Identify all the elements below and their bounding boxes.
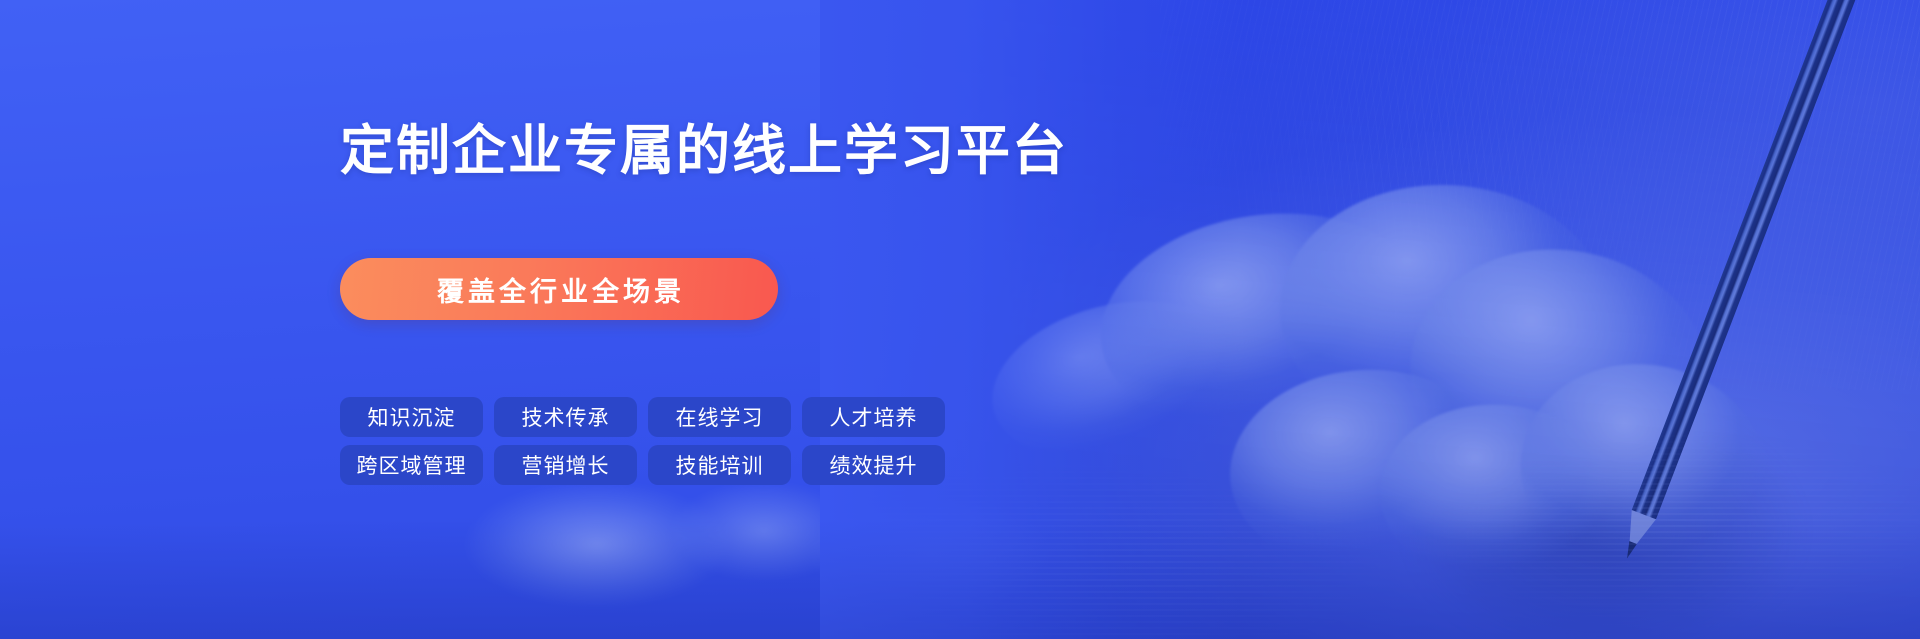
feature-tag[interactable]: 在线学习: [648, 397, 791, 437]
feature-tag-label: 营销增长: [522, 450, 610, 480]
feature-tag-label: 在线学习: [676, 402, 764, 432]
feature-tag-label: 知识沉淀: [368, 402, 456, 432]
feature-tag-grid: 知识沉淀 技术传承 在线学习 人才培养 跨区域管理 营销增长 技能培训 绩效提升: [340, 397, 945, 485]
feature-tag[interactable]: 技能培训: [648, 445, 791, 485]
feature-tag-label: 绩效提升: [830, 450, 918, 480]
feature-tag-label: 技术传承: [522, 402, 610, 432]
feature-tag-label: 人才培养: [830, 402, 918, 432]
promo-banner: 定制企业专属的线上学习平台 覆盖全行业全场景 知识沉淀 技术传承 在线学习 人才…: [0, 0, 1920, 639]
feature-tag[interactable]: 知识沉淀: [340, 397, 483, 437]
feature-tag[interactable]: 绩效提升: [802, 445, 945, 485]
coverage-badge[interactable]: 覆盖全行业全场景: [340, 258, 778, 320]
feature-tag[interactable]: 跨区域管理: [340, 445, 483, 485]
banner-content: 定制企业专属的线上学习平台 覆盖全行业全场景 知识沉淀 技术传承 在线学习 人才…: [340, 0, 1160, 639]
feature-tag-label: 跨区域管理: [357, 450, 467, 480]
page-title: 定制企业专属的线上学习平台: [340, 118, 1068, 186]
feature-tag[interactable]: 人才培养: [802, 397, 945, 437]
feature-tag-label: 技能培训: [676, 450, 764, 480]
feature-tag[interactable]: 营销增长: [494, 445, 637, 485]
coverage-badge-label: 覆盖全行业全场景: [433, 270, 685, 309]
feature-tag[interactable]: 技术传承: [494, 397, 637, 437]
